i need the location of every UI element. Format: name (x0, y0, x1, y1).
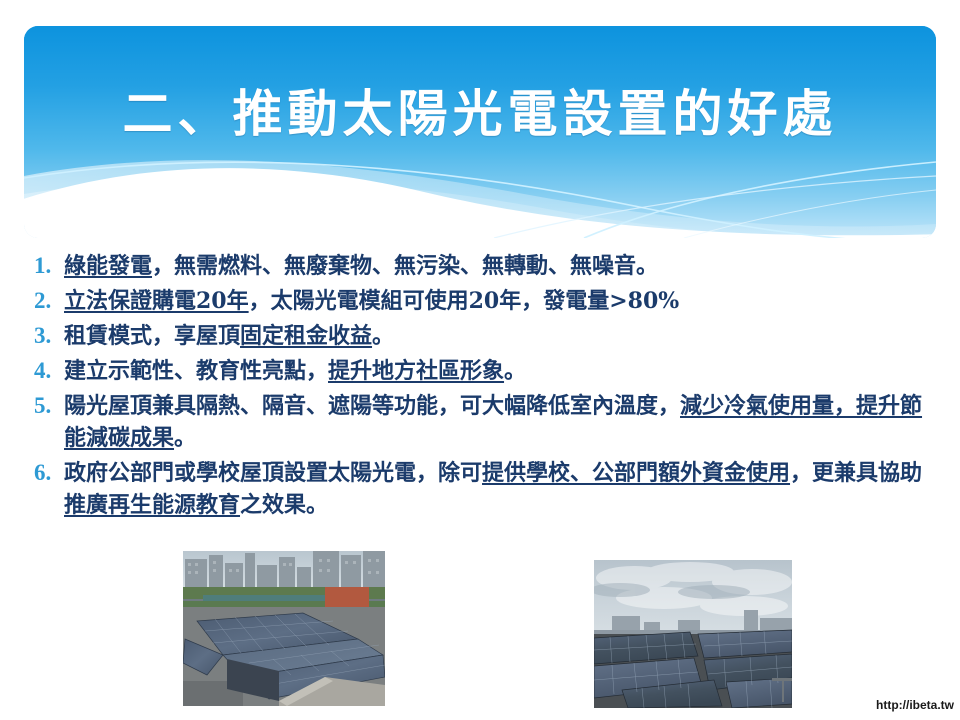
benefit-item: 6.政府公部門或學校屋頂設置太陽光電，除可提供學校、公部門額外資金使用，更兼具協… (34, 457, 934, 521)
benefit-item-text: 立法保證購電20年，太陽光電模組可使用20年，發電量>80% (64, 285, 934, 317)
benefit-item: 2.立法保證購電20年，太陽光電模組可使用20年，發電量>80% (34, 285, 934, 317)
benefit-text-plain: 。 (372, 323, 394, 349)
benefit-item-text: 綠能發電，無需燃料、無廢棄物、無污染、無轉動、無噪音。 (64, 250, 934, 282)
benefit-text-plain: ，太陽光電模組可使用20年，發電量>80% (249, 288, 680, 314)
benefit-text-plain: 。 (504, 358, 526, 384)
benefit-item-text: 建立示範性、教育性亮點，提升地方社區形象。 (64, 355, 934, 387)
benefit-text-emphasis: 固定租金收益 (240, 323, 372, 349)
benefit-item-text: 陽光屋頂兼具隔熱、隔音、遮陽等功能，可大幅降低室內溫度，減少冷氣使用量，提升節能… (64, 390, 934, 454)
rooftop-solar-array-urban-photo (183, 551, 385, 706)
benefit-item-number: 2. (34, 285, 64, 317)
benefit-item-number: 4. (34, 355, 64, 387)
benefit-text-emphasis: 綠能發電 (64, 253, 152, 279)
benefit-text-plain: 。 (174, 425, 196, 451)
watermark-url: http://ibeta.tw (876, 698, 954, 712)
benefit-item: 4.建立示範性、教育性亮點，提升地方社區形象。 (34, 355, 934, 387)
header-banner: 二、推動太陽光電設置的好處 (24, 26, 936, 238)
benefit-item-number: 1. (34, 250, 64, 282)
benefit-text-plain: 建立示範性、教育性亮點， (64, 358, 328, 384)
benefit-text-plain: ，更兼具協助 (790, 460, 922, 486)
photo-right-graphic (594, 560, 792, 708)
benefit-text-emphasis: 提供學校、公部門額外資金使用 (482, 460, 790, 486)
benefit-text-emphasis: 推廣再生能源教育 (64, 492, 240, 518)
benefit-text-emphasis: 立法保證購電20年 (64, 288, 249, 314)
benefit-text-emphasis: 提升地方社區形象 (328, 358, 504, 384)
photo-left-graphic (183, 551, 385, 706)
benefit-item-number: 6. (34, 457, 64, 489)
rooftop-solar-array-sky-photo (594, 560, 792, 708)
benefit-text-plain: ，無需燃料、無廢棄物、無污染、無轉動、無噪音。 (152, 253, 658, 279)
benefit-text-plain: 租賃模式，享屋頂 (64, 323, 240, 349)
benefit-item-text: 租賃模式，享屋頂固定租金收益。 (64, 320, 934, 352)
benefits-list: 1.綠能發電，無需燃料、無廢棄物、無污染、無轉動、無噪音。2.立法保證購電20年… (34, 250, 934, 524)
benefit-text-plain: 之效果。 (240, 492, 328, 518)
benefit-item: 1.綠能發電，無需燃料、無廢棄物、無污染、無轉動、無噪音。 (34, 250, 934, 282)
benefit-item: 3.租賃模式，享屋頂固定租金收益。 (34, 320, 934, 352)
benefit-item: 5.陽光屋頂兼具隔熱、隔音、遮陽等功能，可大幅降低室內溫度，減少冷氣使用量，提升… (34, 390, 934, 454)
benefit-item-text: 政府公部門或學校屋頂設置太陽光電，除可提供學校、公部門額外資金使用，更兼具協助推… (64, 457, 934, 521)
benefit-item-number: 3. (34, 320, 64, 352)
benefit-text-plain: 政府公部門或學校屋頂設置太陽光電，除可 (64, 460, 482, 486)
slide-canvas: 二、推動太陽光電設置的好處 1.綠能發電，無需燃料、無廢棄物、無污染、無轉動、無… (0, 0, 960, 720)
benefit-item-number: 5. (34, 390, 64, 422)
page-title: 二、推動太陽光電設置的好處 (24, 88, 936, 141)
benefit-text-plain: 陽光屋頂兼具隔熱、隔音、遮陽等功能，可大幅降低室內溫度， (64, 393, 680, 419)
